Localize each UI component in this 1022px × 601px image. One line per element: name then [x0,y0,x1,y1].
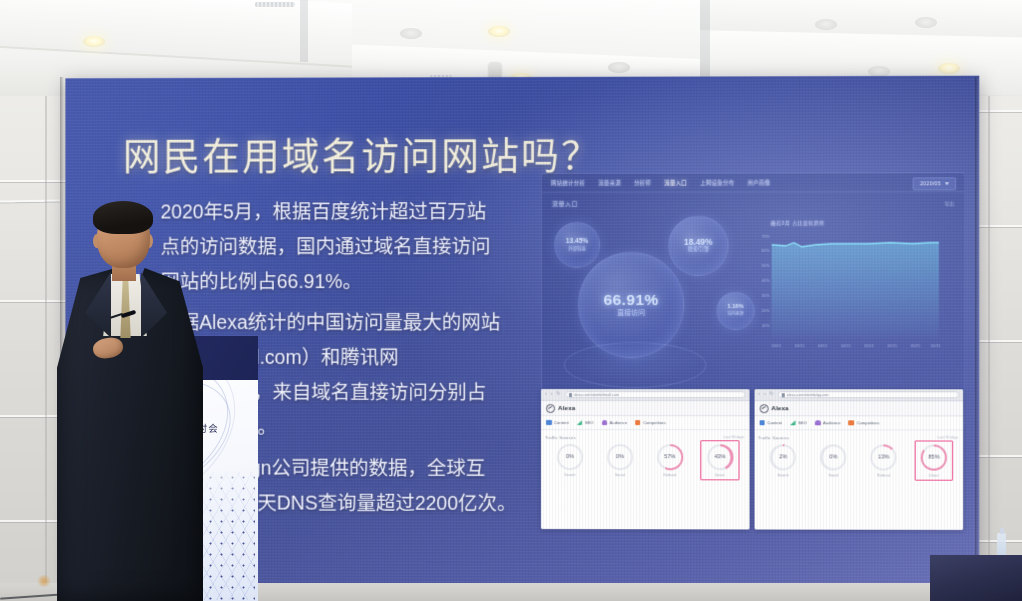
speaker-person [55,206,205,601]
bubble-stat-external: 13.45% 外部链接 [554,222,600,268]
bubble-label: 直接访问 [617,310,645,318]
bullet-line: 根据Alexa统计的中国访问量最大的网站 [161,312,501,334]
chevron-down-icon [945,182,949,185]
traffic-sources-panel: Traffic Sources Last 90 days 0% Search [541,430,749,529]
back-arrow-icon: ‹ [758,392,760,397]
tab-label: Content [767,420,782,425]
y-tick: 40% [762,278,770,283]
dashboard-nav-item: 网站统计分析 [551,179,585,187]
ring-value: 85% [928,455,939,461]
url-input[interactable]: alexa.com/siteinfo/qq.com [778,391,959,398]
tab-label: Audience [823,420,841,425]
traffic-ring-row: 2% Search 0% Social [758,444,959,477]
dashboard-nav-item: 上网设备分布 [700,179,734,187]
bullet-line: 2020年5月，根据百度统计超过百万站 [161,201,487,223]
progress-ring: 2% [770,444,796,470]
ceiling-downlight [938,63,960,74]
bubble-stat-direct: 66.91% 直接访问 [578,252,684,358]
progress-ring: 57% [657,444,683,470]
ring-value: 0% [566,454,574,460]
tab-label: SEO [798,420,807,425]
bubble-stat-search: 18.49% 搜索引擎 [668,216,728,276]
alexa-tab-row: Content SEO Audience Competitors [541,416,749,430]
x-tick: 05/01 [864,344,874,348]
alexa-tab-row: Content SEO Audience Competitors [754,416,963,430]
alexa-screenshots-row: ‹ › ↻ alexa.com/siteinfo/tmall.com Alexa [541,389,963,530]
lock-icon [569,393,572,397]
bubble-label: 搜索引擎 [687,248,709,254]
tab-seo[interactable]: SEO [577,420,594,425]
alexa-browser-window-tmall: ‹ › ↻ alexa.com/siteinfo/tmall.com Alexa [541,389,749,529]
panel-range-label: Last 90 days [724,435,744,439]
ceiling-downlight [400,28,422,39]
x-tick: 05/15 [887,344,897,348]
y-tick: 10% [762,323,770,328]
dashboard-nav: 网站统计分析 流量来源 分析师 流量入口 上网设备分布 用户画像 [542,173,964,193]
dashboard-nav-item: 流量来源 [598,179,621,187]
dashboard-nav-item: 用户画像 [747,179,770,187]
lock-icon [782,393,785,397]
content-icon [759,420,765,425]
bubble-value: 66.91% [604,292,659,308]
tab-label: Competitors [857,420,880,425]
tab-label: Content [554,420,569,425]
traffic-ring-row: 0% Search 0% Social [545,444,745,477]
competitors-icon [635,420,641,425]
tab-competitors[interactable]: Competitors [635,420,666,425]
ring-value: 0% [616,454,624,460]
ring-label: Search [564,473,575,477]
forward-arrow-icon: › [764,392,766,397]
dashboard-date-selector: 2020/05 [913,177,956,190]
alexa-brand-name: Alexa [558,405,576,412]
x-tick: 04/15 [841,344,851,348]
ceiling-downlight [83,36,105,47]
competitors-icon [849,420,855,425]
seo-icon [577,420,583,425]
ring-label: Direct [929,474,938,478]
reload-icon: ↻ [769,392,773,397]
ring-label: Referral [877,474,890,478]
hair [93,201,153,234]
chart-x-axis: 03/01 03/15 04/01 04/15 05/01 05/15 05/2… [772,344,948,353]
progress-ring: 0% [820,444,846,470]
bubble-value: 18.49% [684,238,713,247]
ceiling-downlight [915,17,937,28]
dashboard-trend-chart: 最近3月 占比变化趋势 70% 60% 50% 40% 30% 20% 10% [757,230,948,356]
head-table [930,555,1022,601]
ceiling-vent [255,2,295,7]
ring-label: Search [777,473,788,477]
tab-audience[interactable]: Audience [815,420,841,425]
alexa-brand-header: Alexa [754,401,963,416]
dashboard-nav-item-active: 流量入口 [664,179,687,187]
date-selector-value: 2020/05 [920,181,941,187]
tab-content[interactable]: Content [759,420,782,425]
dashboard-section-label: 流量入口 [552,199,578,208]
bubble-value: 13.45% [566,239,588,246]
browser-address-bar: ‹ › ↻ alexa.com/siteinfo/tmall.com [541,389,749,401]
tab-label: Audience [610,420,628,425]
chart-title: 最近3月 占比变化趋势 [771,220,825,227]
ring-label: Direct [715,473,724,477]
alexa-brand-header: Alexa [541,401,749,416]
x-tick: 05/25 [911,344,921,348]
x-tick: 05/31 [931,344,941,348]
reload-icon: ↻ [556,392,560,397]
x-tick: 03/01 [772,344,782,348]
progress-ring: 85% [921,445,947,471]
ceiling-downlight [815,19,837,30]
y-tick: 30% [762,293,770,298]
ring-value: 57% [664,454,675,460]
slide-title: 网民在用域名访问网站吗？ [123,125,601,181]
y-tick: 60% [762,248,770,253]
y-tick: 20% [762,308,770,313]
ring-social: 0% Social [597,444,643,477]
progress-ring: 13% [871,444,897,470]
alexa-logo-icon [759,404,768,413]
browser-address-bar: ‹ › ↻ alexa.com/siteinfo/qq.com [754,389,963,401]
bullet-line: 点的访问数据，国内通过域名直接访问 [161,236,491,258]
y-tick: 70% [762,234,770,239]
tab-audience[interactable]: Audience [602,420,628,425]
bubble-stat-internal: 1.16% 站内来源 [716,292,754,330]
ring-value: 0% [829,454,837,460]
tab-label: SEO [585,420,594,425]
dashboard-export-label: 导出 [944,200,954,207]
audience-icon [815,420,821,425]
ring-referral: 13% Referral [860,444,906,477]
alexa-browser-window-qq: ‹ › ↻ alexa.com/siteinfo/qq.com Alexa Co [754,389,963,530]
baidu-tongji-dashboard-screenshot: 网站统计分析 流量来源 分析师 流量入口 上网设备分布 用户画像 2020/05… [541,172,965,425]
panel-range-label: Last 90 days [937,435,958,439]
ring-search: 0% Search [547,444,593,477]
screen-right-edge [975,77,979,585]
ring-label: Social [828,473,838,477]
ring-search: 2% Search [760,444,806,477]
url-text: alexa.com/siteinfo/qq.com [787,393,829,397]
seo-icon [790,420,796,425]
traffic-sources-panel: Traffic Sources Last 90 days 2% Search [754,430,963,530]
x-tick: 03/15 [795,344,805,348]
chart-y-axis: 70% 60% 50% 40% 30% 20% 10% [757,234,770,338]
x-tick: 04/01 [818,344,828,348]
y-tick: 50% [762,263,770,268]
progress-ring: 43% [707,444,733,470]
url-text: alexa.com/siteinfo/tmall.com [574,393,619,397]
url-input[interactable]: alexa.com/siteinfo/tmall.com [565,391,745,398]
ceiling-downlight [608,62,630,73]
ring-direct-highlighted: 43% Direct [697,444,743,477]
bubble-label: 站内来源 [727,312,743,316]
ring-social: 0% Social [810,444,856,477]
ring-value: 13% [878,454,889,460]
bubble-label: 外部链接 [568,246,586,251]
tab-seo[interactable]: SEO [790,420,807,425]
audience-icon [602,420,608,425]
ring-value: 2% [779,454,787,460]
amber-light-glow [36,575,52,587]
presentation-photo-scene: 网民在用域名访问网站吗？ 2020年5月，根据百度统计超过百万站 点的访问数据，… [0,0,1022,601]
ring-label: Referral [663,473,676,477]
ceiling-downlight [488,26,510,37]
progress-ring: 0% [557,444,583,470]
alexa-brand-name: Alexa [771,405,789,412]
ring-referral: 57% Referral [647,444,693,477]
tab-competitors[interactable]: Competitors [849,420,880,425]
tab-label: Competitors [643,420,666,425]
dashboard-nav-item: 分析师 [634,179,651,187]
trend-area-line [772,234,948,339]
ring-label: Social [615,473,625,477]
chart-plot-area [772,234,948,339]
progress-ring: 0% [607,444,633,470]
ring-value: 43% [714,454,725,460]
ring-direct-highlighted: 85% Direct [911,444,957,477]
